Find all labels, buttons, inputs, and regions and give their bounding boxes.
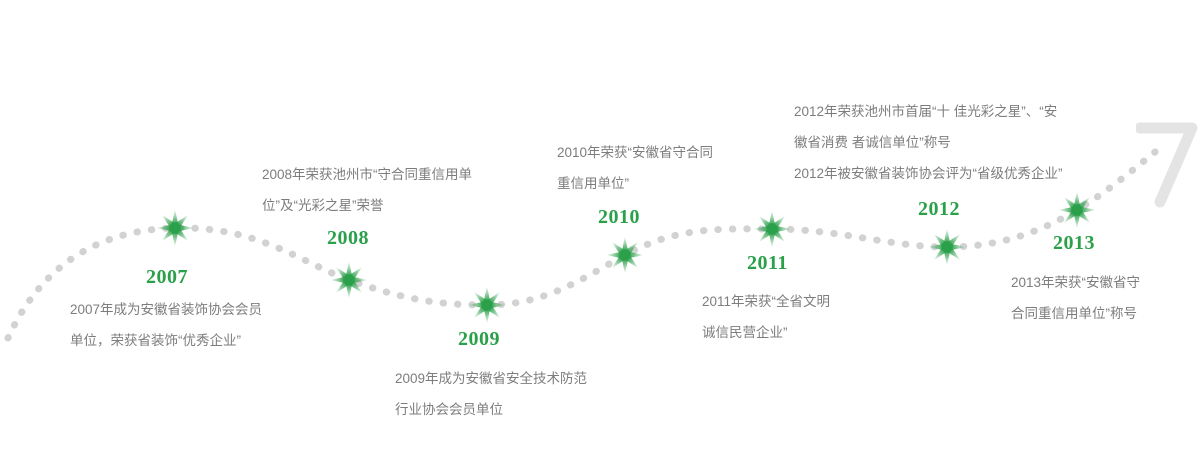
caption-2009: 2009年成为安徽省安全技术防范行业协会会员单位 — [395, 363, 587, 425]
caption-line: 位”及“光彩之星”荣誉 — [262, 190, 472, 221]
caption-2010: 2010年荣获“安徽省守合同重信用单位” — [557, 137, 713, 199]
decorative-seven-watermark — [1136, 118, 1200, 214]
star-marker-2012 — [925, 225, 969, 269]
caption-2012: 2012年荣获池州市首届“十 佳光彩之星”、“安徽省消费 者诚信单位”称号201… — [794, 96, 1063, 189]
caption-line: 2013年荣获“安徽省守 — [1011, 267, 1140, 298]
caption-line: 2012年荣获池州市首届“十 佳光彩之星”、“安 — [794, 96, 1063, 127]
year-label-2007: 2007 — [146, 266, 188, 289]
star-marker-2008 — [327, 258, 371, 302]
caption-line: 2008年荣获池州市“守合同重信用单 — [262, 159, 472, 190]
caption-2013: 2013年荣获“安徽省守合同重信用单位”称号 — [1011, 267, 1140, 329]
caption-2007: 2007年成为安徽省装饰协会会员单位，荣获省装饰“优秀企业” — [70, 294, 262, 356]
year-label-2013: 2013 — [1053, 232, 1095, 255]
year-label-2008: 2008 — [327, 227, 369, 250]
caption-line: 2007年成为安徽省装饰协会会员 — [70, 294, 262, 325]
star-marker-2009 — [465, 283, 509, 327]
year-label-2009: 2009 — [458, 328, 500, 351]
year-label-2010: 2010 — [598, 206, 640, 229]
caption-line: 诚信民营企业” — [702, 317, 830, 348]
star-marker-2007 — [153, 206, 197, 250]
year-label-2012: 2012 — [918, 198, 960, 221]
caption-line: 2011年荣获“全省文明 — [702, 286, 830, 317]
caption-line: 单位，荣获省装饰“优秀企业” — [70, 325, 262, 356]
caption-line: 合同重信用单位”称号 — [1011, 298, 1140, 329]
year-label-2011: 2011 — [747, 252, 788, 275]
caption-line: 徽省消费 者诚信单位”称号 — [794, 127, 1063, 158]
caption-line: 2010年荣获“安徽省守合同 — [557, 137, 713, 168]
caption-2008: 2008年荣获池州市“守合同重信用单位”及“光彩之星”荣誉 — [262, 159, 472, 221]
star-marker-2011 — [750, 207, 794, 251]
caption-2011: 2011年荣获“全省文明诚信民营企业” — [702, 286, 830, 348]
star-marker-2010 — [603, 233, 647, 277]
caption-line: 行业协会会员单位 — [395, 394, 587, 425]
timeline-infographic: 2007200820092010201120122013 2007年成为安徽省装… — [0, 0, 1200, 465]
star-marker-2013 — [1055, 188, 1099, 232]
caption-line: 2012年被安徽省装饰协会评为“省级优秀企业” — [794, 158, 1063, 189]
caption-line: 重信用单位” — [557, 168, 713, 199]
caption-line: 2009年成为安徽省安全技术防范 — [395, 363, 587, 394]
